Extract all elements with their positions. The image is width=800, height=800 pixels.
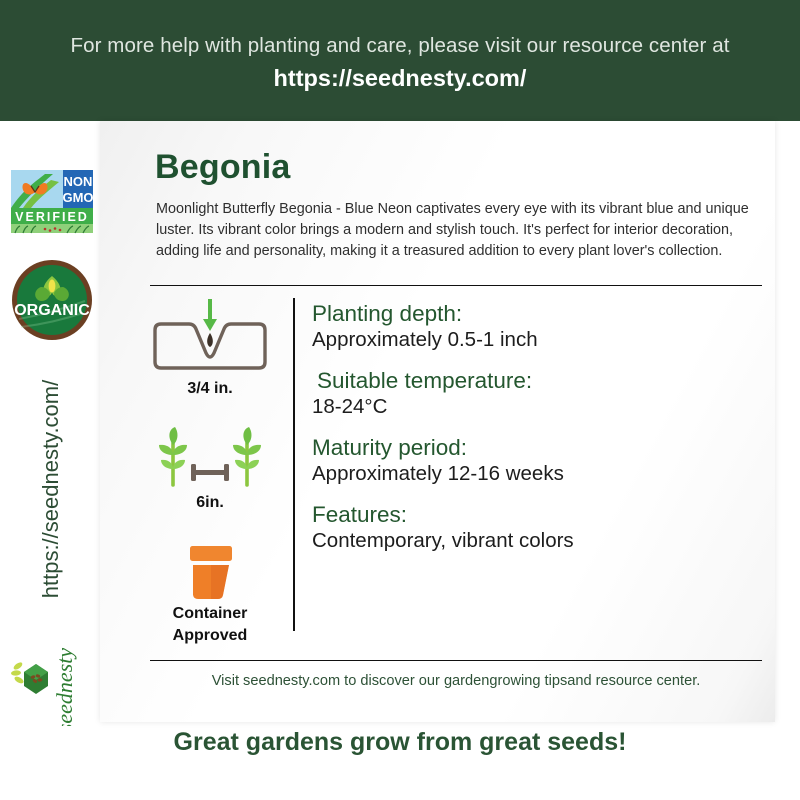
down-arrow-icon bbox=[203, 299, 217, 331]
badge-gmo-text: GMO bbox=[62, 190, 93, 205]
brand-logo-text: seednesty bbox=[52, 648, 77, 726]
spec-maturity-period-value: Approximately 12-16 weeks bbox=[312, 462, 742, 487]
header-website-url[interactable]: https://seednesty.com/ bbox=[274, 65, 527, 92]
spec-features-value: Contemporary, vibrant colors bbox=[312, 529, 742, 554]
non-gmo-project-verified-badge: NON GMO VERIFIED bbox=[9, 168, 95, 235]
spec-planting-depth-value: Approximately 0.5-1 inch bbox=[312, 328, 742, 353]
organic-badge: ORGANIC bbox=[11, 259, 93, 341]
resource-center-header: For more help with planting and care, pl… bbox=[0, 0, 800, 121]
planting-depth-block: 3/4 in. bbox=[130, 297, 290, 399]
spacing-measure-bar bbox=[191, 464, 229, 481]
container-approved-caption-line2: Approved bbox=[130, 627, 290, 646]
badge-verified-text: VERIFIED bbox=[15, 210, 89, 224]
plant-description: Moonlight Butterfly Begonia - Blue Neon … bbox=[156, 199, 763, 262]
planting-depth-caption: 3/4 in. bbox=[130, 380, 290, 399]
left-rail: NON GMO VERIFIED OR bbox=[0, 121, 100, 728]
spec-planting-depth: Planting depth: Approximately 0.5-1 inch bbox=[312, 301, 742, 353]
page-title: Begonia bbox=[155, 148, 291, 187]
divider-vertical bbox=[293, 298, 295, 631]
spec-suitable-temperature: Suitable temperature: 18-24°C bbox=[312, 368, 742, 420]
spec-features: Features: Contemporary, vibrant colors bbox=[312, 502, 742, 554]
divider-top bbox=[150, 285, 762, 286]
spec-suitable-temperature-value: 18-24°C bbox=[312, 395, 742, 420]
vertical-website-url[interactable]: https://seednesty.com/ bbox=[38, 339, 64, 639]
planting-depth-icon bbox=[130, 297, 290, 377]
plant-spacing-caption: 6in. bbox=[130, 494, 290, 513]
badge-non-text: NON bbox=[64, 174, 93, 189]
seednesty-brand-logo: seednesty bbox=[2, 646, 98, 726]
specs-column: Planting depth: Approximately 0.5-1 inch… bbox=[312, 301, 742, 569]
spec-maturity-period-label: Maturity period: bbox=[312, 435, 742, 461]
seed-icon bbox=[207, 333, 213, 347]
tagline: Great gardens grow from great seeds! bbox=[0, 728, 800, 757]
plant-spacing-icon bbox=[130, 425, 290, 491]
divider-bottom bbox=[150, 660, 762, 661]
card-footnote: Visit seednesty.com to discover our gard… bbox=[150, 673, 762, 689]
spec-maturity-period: Maturity period: Approximately 12-16 wee… bbox=[312, 435, 742, 487]
spec-features-label: Features: bbox=[312, 502, 742, 528]
seed-packet-card: Begonia Moonlight Butterfly Begonia - Bl… bbox=[100, 121, 775, 722]
container-pot-icon bbox=[130, 540, 290, 602]
spec-planting-depth-label: Planting depth: bbox=[312, 301, 742, 327]
spec-suitable-temperature-label: Suitable temperature: bbox=[312, 368, 742, 394]
icon-column: 3/4 in. bbox=[130, 297, 290, 645]
seedling-left bbox=[159, 427, 187, 485]
seedling-right bbox=[233, 427, 261, 485]
header-help-text: For more help with planting and care, pl… bbox=[70, 33, 729, 59]
container-approved-block: Container Approved bbox=[130, 540, 290, 645]
container-approved-caption-line1: Container bbox=[130, 605, 290, 624]
plant-spacing-block: 6in. bbox=[130, 425, 290, 513]
organic-badge-label: ORGANIC bbox=[14, 302, 90, 319]
